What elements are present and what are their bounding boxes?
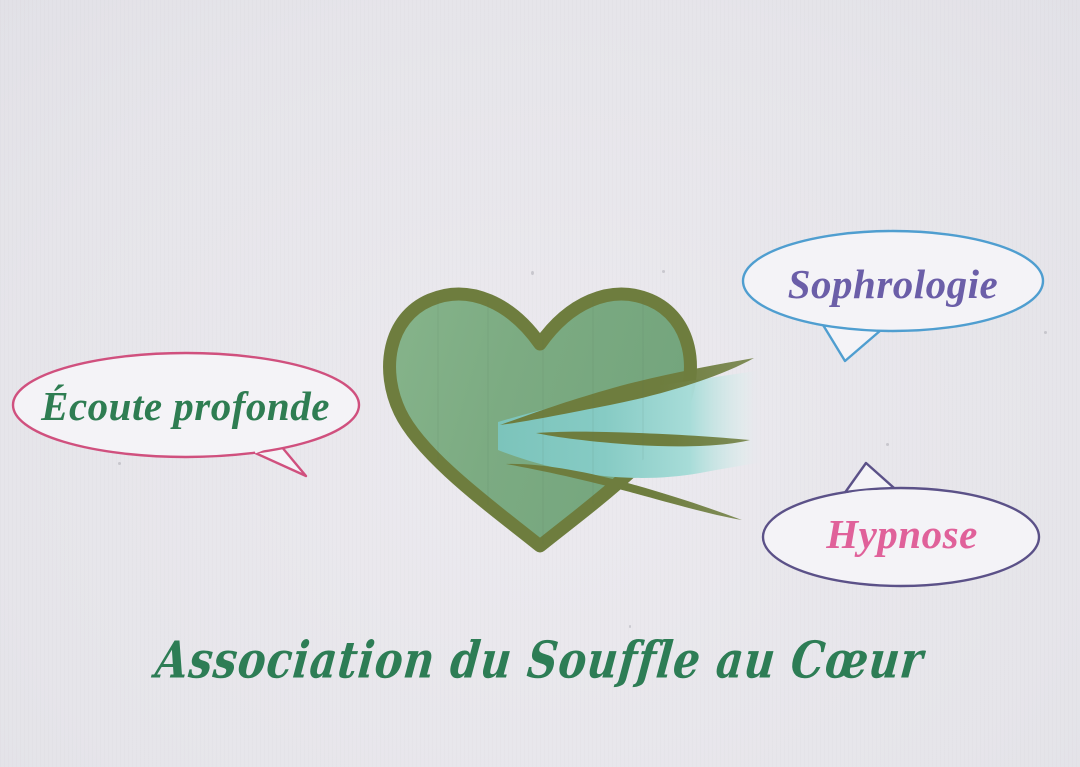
- association-name: Association du Souffle au Cœur: [0, 636, 1080, 686]
- scan-lines-overlay: [0, 0, 1080, 182]
- bubble-label-hypnose: Hypnose: [762, 510, 1042, 558]
- gradient-sky-band: [0, 0, 1080, 182]
- speech-bubble-hypnose[interactable]: Hypnose: [762, 456, 1044, 590]
- poster-canvas: Écoute profonde Sophrologie Hypnose Asso…: [0, 0, 1080, 767]
- bubble-label-sophrologie: Sophrologie: [742, 260, 1044, 308]
- scan-speck: [629, 625, 631, 628]
- association-name-text: Association du Souffle au Cœur: [153, 632, 927, 691]
- speech-bubble-ecoute-profonde[interactable]: Écoute profonde: [8, 348, 373, 478]
- bubble-label-ecoute-profonde: Écoute profonde: [8, 382, 363, 430]
- scan-speck: [886, 443, 889, 446]
- heart-logo: [378, 272, 768, 562]
- speech-bubble-sophrologie[interactable]: Sophrologie: [742, 228, 1048, 368]
